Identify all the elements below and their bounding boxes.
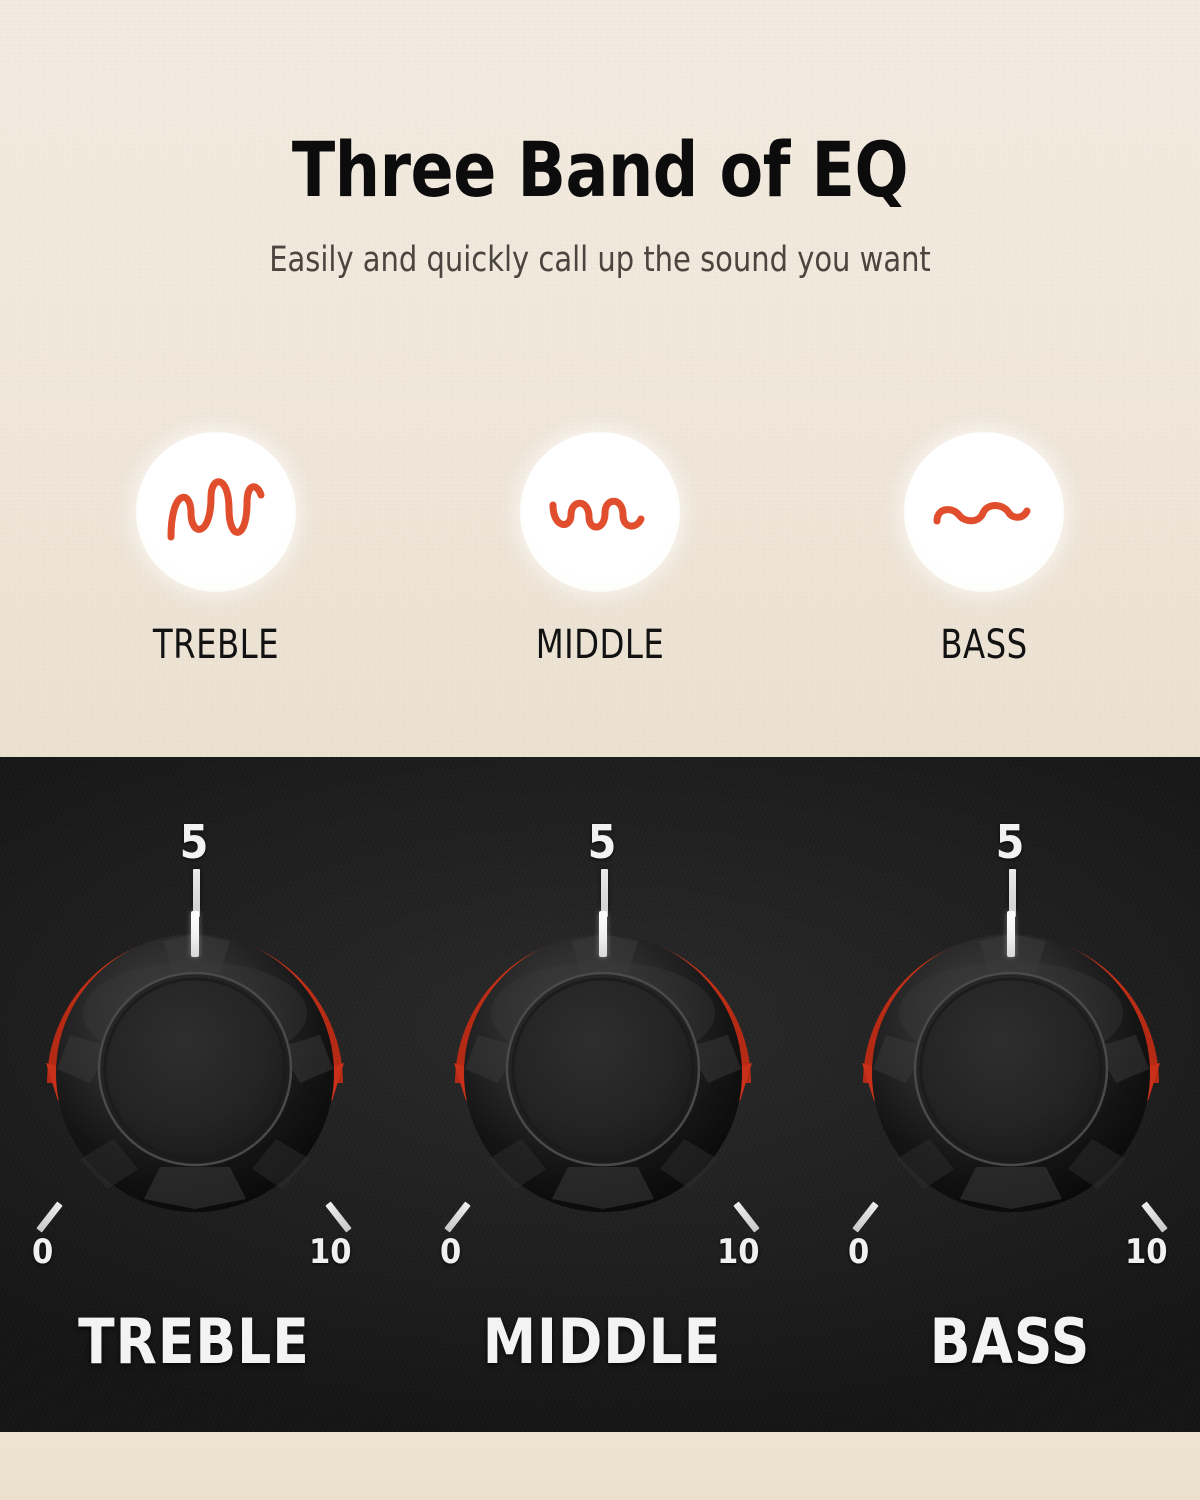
- top-info-panel: Three Band of EQ Easily and quickly call…: [0, 0, 1200, 757]
- scale-label-min-bass: 0: [848, 1235, 869, 1269]
- bass-waveform-icon: [929, 467, 1039, 557]
- eq-band-icon-row: TREBLE MIDDLE: [0, 432, 1200, 682]
- knob-pointer-middle: [599, 911, 607, 957]
- scale-label-max-bass: 10: [1125, 1235, 1168, 1269]
- knob-group-middle: 5: [402, 757, 802, 1432]
- knob-value-treble: 5: [0, 819, 394, 865]
- knob-group-bass: 5: [810, 757, 1200, 1432]
- scale-label-min-treble: 0: [32, 1235, 53, 1269]
- bottom-cream-strip: [0, 1432, 1200, 1500]
- bass-icon-disc: [904, 432, 1064, 592]
- scale-label-max-treble: 10: [309, 1235, 352, 1269]
- knob-dial-middle[interactable]: [458, 905, 748, 1195]
- middle-waveform-icon: [545, 467, 655, 557]
- eq-band-treble: TREBLE: [56, 432, 376, 668]
- knob-name-bass: BASS: [818, 1311, 1200, 1373]
- scale-label-max-middle: 10: [717, 1235, 760, 1269]
- treble-icon-disc: [136, 432, 296, 592]
- knob-name-treble: TREBLE: [2, 1311, 386, 1373]
- middle-icon-disc: [520, 432, 680, 592]
- eq-band-label-treble: TREBLE: [72, 622, 360, 668]
- eq-band-middle: MIDDLE: [440, 432, 760, 668]
- knob-dial-treble[interactable]: [50, 905, 340, 1195]
- amplifier-control-panel-photo: 5: [0, 757, 1200, 1432]
- knob-name-middle: MIDDLE: [410, 1311, 794, 1373]
- knob-dial-bass[interactable]: [866, 905, 1156, 1195]
- knob-pointer-bass: [1007, 911, 1015, 957]
- eq-band-label-bass: BASS: [840, 622, 1128, 668]
- page-subtitle: Easily and quickly call up the sound you…: [48, 240, 1152, 280]
- treble-waveform-icon: [161, 467, 271, 557]
- knob-value-bass: 5: [810, 819, 1200, 865]
- knob-group-treble: 5: [0, 757, 394, 1432]
- eq-band-label-middle: MIDDLE: [456, 622, 744, 668]
- knob-pointer-treble: [191, 911, 199, 957]
- product-feature-infographic: Three Band of EQ Easily and quickly call…: [0, 0, 1200, 1500]
- page-title: Three Band of EQ: [42, 132, 1158, 208]
- knob-value-middle: 5: [402, 819, 802, 865]
- eq-band-bass: BASS: [824, 432, 1144, 668]
- scale-label-min-middle: 0: [440, 1235, 461, 1269]
